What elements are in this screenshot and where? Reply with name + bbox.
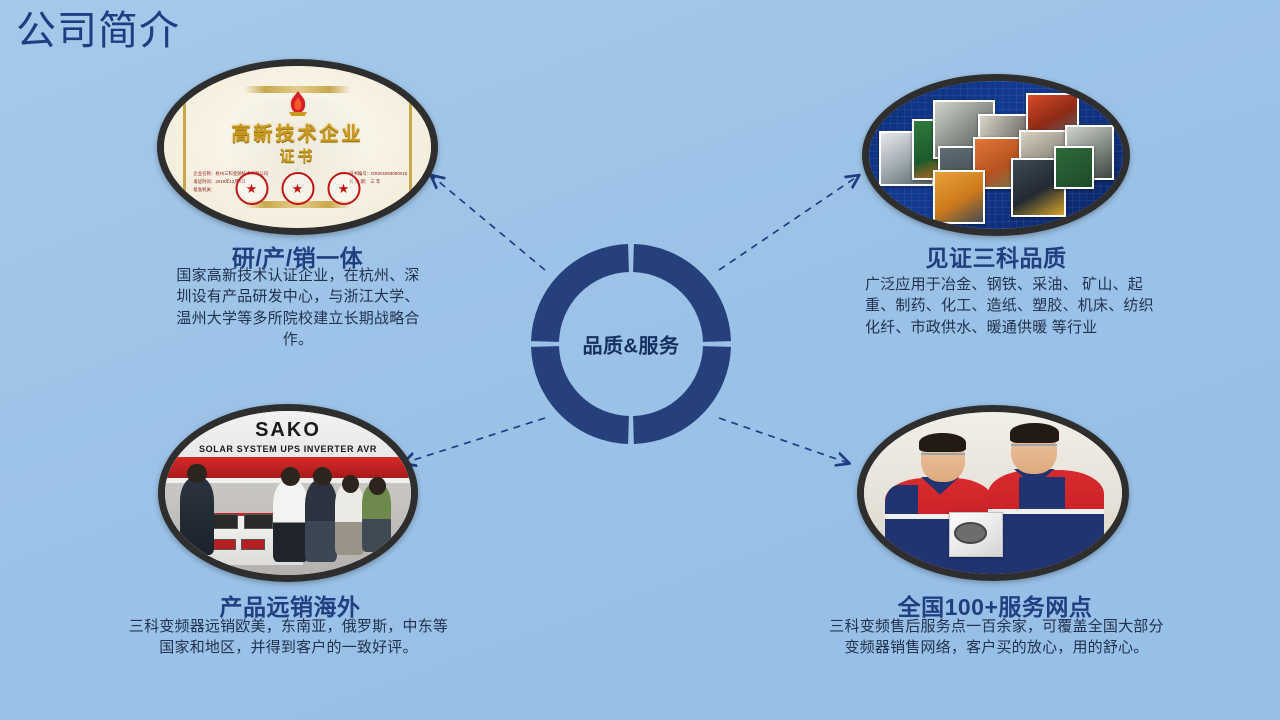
booth-tagline: SOLAR SYSTEM UPS INVERTER AVR	[165, 444, 411, 454]
technician-right-hair	[1010, 423, 1059, 442]
booth-product	[244, 514, 273, 529]
certificate-image: 高新技术企业 证书 企业名称：杭州三科变频技术有限公司发证时间：2019年12月…	[164, 66, 431, 228]
official-seal-icon: ★	[235, 172, 268, 205]
certificate-title: 高新技术企业	[164, 119, 431, 146]
quadrant-body-top-right: 广泛应用于冶金、钢铁、采油、 矿山、起重、制药、化工、造纸、塑胶、机床、纺织化纤…	[865, 274, 1157, 338]
product-fan-icon	[954, 522, 986, 544]
slide-canvas: 公司简介 品质&服务	[0, 0, 1280, 720]
applications-oval-frame	[862, 74, 1130, 236]
collage-tile	[1054, 146, 1094, 188]
certificate-subtitle: 证书	[164, 145, 431, 166]
booth-visitor	[305, 480, 337, 562]
certificate-oval-frame: 高新技术企业 证书 企业名称：杭州三科变频技术有限公司发证时间：2019年12月…	[157, 59, 438, 235]
service-technicians-image	[864, 412, 1122, 574]
collage-tile	[933, 170, 985, 224]
certificate-seals: ★ ★ ★	[235, 172, 360, 205]
quadrant-body-top-left: 国家高新技术认证企业，在杭州、深圳设有产品研发中心，与浙江大学、温州大学等多所院…	[172, 265, 424, 350]
booth-visitor	[273, 480, 307, 562]
booth-oval-frame: SAKO SOLAR SYSTEM UPS INVERTER AVR	[158, 404, 418, 582]
official-seal-icon: ★	[327, 172, 360, 205]
booth-visitor	[335, 483, 365, 555]
booth-product	[212, 539, 236, 551]
booth-product	[241, 539, 265, 551]
technician-left-glasses	[921, 453, 965, 459]
booth-visitor-head	[369, 477, 386, 495]
quadrant-body-bottom-left: 三科变频器远销欧美，东南亚，俄罗斯，中东等国家和地区，并得到客户的一致好评。	[126, 616, 451, 659]
technicians-oval-frame	[857, 405, 1129, 581]
technician-right-glasses	[1011, 444, 1057, 450]
booth-visitor-head	[187, 464, 207, 484]
connector-to-bottom-right	[719, 418, 848, 463]
ring-segment-bottom-right	[634, 347, 718, 431]
booth-visitor	[180, 477, 214, 556]
booth-brand-logo: SAKO	[165, 419, 411, 442]
center-ring: 品质&服务	[527, 240, 735, 448]
connector-to-bottom-left	[404, 418, 545, 463]
quadrant-heading-top-right: 见证三科品质	[862, 239, 1130, 273]
ring-segment-bottom-left	[545, 347, 629, 431]
page-title: 公司简介	[16, 8, 180, 54]
connector-to-top-right	[719, 176, 858, 270]
technician-right-lower	[988, 514, 1104, 574]
applications-collage-image	[869, 81, 1123, 229]
center-ring-label: 品质&服务	[527, 330, 735, 359]
quadrant-body-bottom-right: 三科变频售后服务点一百余家，可覆盖全国大部分变频器销售网络，客户买的放心，用的舒…	[824, 616, 1169, 659]
technician-left-hair	[919, 433, 965, 452]
official-seal-icon: ★	[281, 172, 314, 205]
trade-show-booth-image: SAKO SOLAR SYSTEM UPS INVERTER AVR	[165, 411, 411, 575]
flame-emblem-icon	[285, 90, 311, 120]
